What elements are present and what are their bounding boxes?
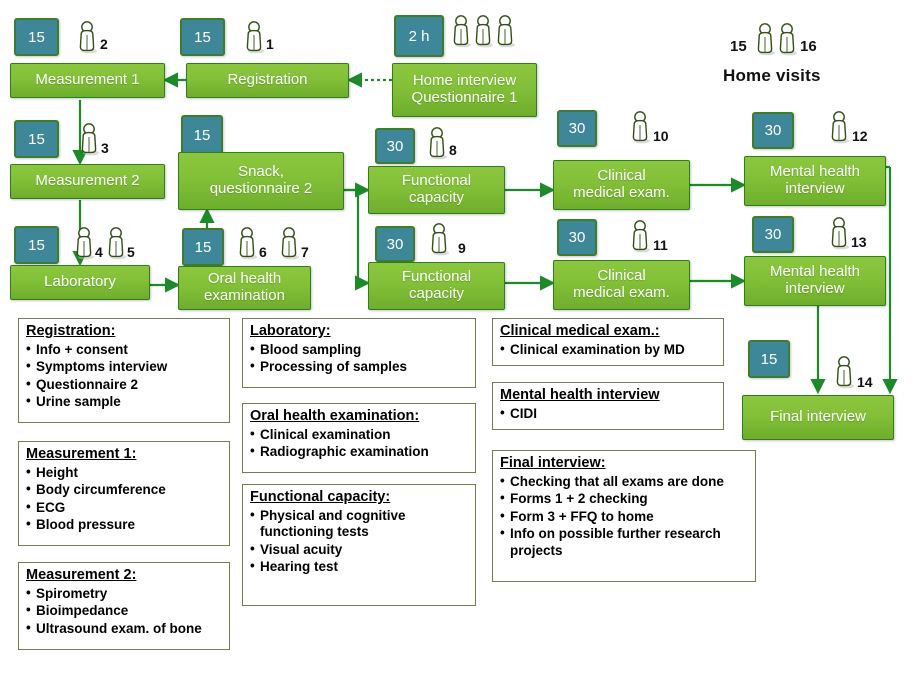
legend-item: Spirometry	[26, 586, 222, 602]
person-index-8: 8	[449, 142, 457, 158]
legend-item: CIDI	[500, 406, 716, 422]
legend-item: Body circumference	[26, 482, 222, 498]
person-icon	[629, 110, 651, 144]
legend-item: Forms 1 + 2 checking	[500, 491, 748, 507]
legend-item: Info on possible further research projec…	[500, 526, 748, 559]
person-index-10: 10	[653, 128, 669, 144]
process-label-mental2-line2: interview	[781, 281, 848, 298]
legend-title: Functional capacity:	[250, 489, 468, 507]
person-icon	[236, 226, 258, 260]
person-icon	[78, 122, 100, 156]
process-label-mental1-line1: Mental health	[766, 164, 864, 181]
legend-item: Questionnaire 2	[26, 377, 222, 393]
legend-list: Spirometry Bioimpedance Ultrasound exam.…	[26, 586, 222, 637]
legend-laboratory: Laboratory: Blood sampling Processing of…	[242, 318, 476, 388]
badge-snack-duration: 15	[181, 115, 223, 155]
process-label-home-interview-line1: Home interview	[409, 73, 520, 90]
legend-measurement1: Measurement 1: Height Body circumference…	[18, 441, 230, 546]
legend-title: Oral health examination:	[250, 408, 468, 426]
legend-oral-health: Oral health examination: Clinical examin…	[242, 403, 476, 473]
process-label-snack-line2: questionnaire 2	[206, 181, 317, 198]
process-label-functional2-line1: Functional	[398, 269, 475, 286]
process-box-final-interview[interactable]: Final interview	[742, 395, 894, 440]
legend-list: CIDI	[500, 406, 716, 422]
person-index-3: 3	[101, 140, 109, 156]
process-box-measurement2[interactable]: Measurement 2	[10, 164, 165, 199]
legend-title: Laboratory:	[250, 323, 468, 341]
legend-registration: Registration: Info + consent Symptoms in…	[18, 318, 230, 423]
person-icon	[243, 20, 265, 54]
person-icon	[472, 14, 494, 48]
legend-item: Ultrasound exam. of bone	[26, 621, 222, 637]
legend-list: Clinical examination Radiographic examin…	[250, 427, 468, 461]
legend-item: Height	[26, 465, 222, 481]
person-index-2: 2	[100, 36, 108, 52]
legend-title: Measurement 2:	[26, 567, 222, 585]
legend-item: Visual acuity	[250, 542, 468, 558]
legend-item: Hearing test	[250, 559, 468, 575]
badge-clinical2-duration: 30	[557, 219, 597, 256]
legend-title: Clinical medical exam.:	[500, 323, 716, 341]
process-box-laboratory[interactable]: Laboratory	[10, 265, 150, 300]
process-box-clinical2[interactable]: Clinical medical exam.	[553, 260, 690, 310]
process-box-functional2[interactable]: Functional capacity	[368, 262, 505, 310]
process-box-mental1[interactable]: Mental health interview	[744, 156, 886, 206]
legend-item: Radiographic examination	[250, 444, 468, 460]
process-box-mental2[interactable]: Mental health interview	[744, 256, 886, 306]
badge-oral-health-duration: 15	[182, 228, 224, 266]
process-label-mental1-line2: interview	[781, 181, 848, 198]
process-label-oral-line2: examination	[200, 288, 289, 305]
person-icon	[428, 222, 450, 256]
legend-list: Checking that all exams are done Forms 1…	[500, 474, 748, 559]
badge-measurement2-duration: 15	[14, 120, 59, 158]
process-label-registration: Registration	[223, 72, 311, 89]
person-index-7: 7	[301, 244, 309, 260]
person-icon	[450, 14, 472, 48]
person-icon	[76, 20, 98, 54]
legend-list: Clinical examination by MD	[500, 342, 716, 358]
process-label-measurement1: Measurement 1	[31, 72, 143, 89]
person-icon	[754, 22, 776, 56]
person-index-13: 13	[851, 234, 867, 250]
legend-final-interview: Final interview: Checking that all exams…	[492, 450, 756, 582]
process-label-mental2-line1: Mental health	[766, 264, 864, 281]
process-label-measurement2: Measurement 2	[31, 173, 143, 190]
process-label-clinical2-line2: medical exam.	[569, 285, 674, 302]
process-label-home-interview-line2: Questionnaire 1	[408, 90, 522, 107]
legend-measurement2: Measurement 2: Spirometry Bioimpedance U…	[18, 562, 230, 650]
person-index-5: 5	[127, 244, 135, 260]
badge-home-interview-duration: 2 h	[394, 15, 444, 57]
person-index-9: 9	[458, 240, 466, 256]
badge-laboratory-duration: 15	[14, 226, 59, 264]
person-index-14: 14	[857, 374, 873, 390]
home-visits-label: Home visits	[723, 66, 821, 86]
person-icon	[278, 226, 300, 260]
legend-clinical-medical-exam: Clinical medical exam.: Clinical examina…	[492, 318, 724, 366]
person-icon	[828, 216, 850, 250]
badge-final-duration: 15	[748, 340, 790, 378]
process-label-clinical1-line2: medical exam.	[569, 185, 674, 202]
process-box-clinical1[interactable]: Clinical medical exam.	[553, 160, 690, 210]
person-icon	[105, 226, 127, 260]
legend-item: Symptoms interview	[26, 359, 222, 375]
person-icon	[629, 219, 651, 253]
process-label-functional1-line2: capacity	[405, 190, 468, 207]
legend-mental-health-interview: Mental health interview CIDI	[492, 382, 724, 430]
legend-list: Height Body circumference ECG Blood pres…	[26, 465, 222, 534]
legend-item: Bioimpedance	[26, 603, 222, 619]
badge-mental2-duration: 30	[752, 216, 794, 253]
legend-list: Info + consent Symptoms interview Questi…	[26, 342, 222, 411]
badge-clinical1-duration: 30	[557, 110, 597, 147]
person-index-1: 1	[266, 36, 274, 52]
badge-measurement1-duration: 15	[14, 18, 59, 56]
person-icon	[426, 126, 448, 160]
person-icon	[828, 110, 850, 144]
legend-item: Urine sample	[26, 394, 222, 410]
legend-item: Checking that all exams are done	[500, 474, 748, 490]
person-index-4: 4	[95, 244, 103, 260]
process-box-snack[interactable]: Snack, questionnaire 2	[178, 152, 344, 210]
process-box-oral-health[interactable]: Oral health examination	[178, 266, 311, 310]
process-label-functional1-line1: Functional	[398, 173, 475, 190]
legend-item: Form 3 + FFQ to home	[500, 509, 748, 525]
process-label-final-interview: Final interview	[766, 409, 870, 426]
person-icon	[73, 226, 95, 260]
process-box-registration[interactable]: Registration	[186, 63, 349, 98]
process-label-oral-line1: Oral health	[204, 271, 285, 288]
person-icon	[776, 22, 798, 56]
process-box-functional1[interactable]: Functional capacity	[368, 166, 505, 214]
home-visit-index-16: 16	[800, 38, 817, 55]
legend-title: Final interview:	[500, 455, 748, 473]
person-icon	[833, 355, 855, 389]
legend-item: Blood pressure	[26, 517, 222, 533]
legend-functional-capacity: Functional capacity: Physical and cognit…	[242, 484, 476, 606]
diagram-canvas: 15 15 2 h 15 15 15 15 30 30 30 30 30 30 …	[0, 0, 920, 690]
legend-item: Blood sampling	[250, 342, 468, 358]
legend-item: Info + consent	[26, 342, 222, 358]
legend-item: Physical and cognitive functioning tests	[250, 508, 468, 541]
home-visit-index-15: 15	[730, 38, 747, 55]
process-label-clinical2-line1: Clinical	[593, 268, 649, 285]
process-box-home-interview[interactable]: Home interview Questionnaire 1	[392, 63, 537, 117]
person-index-11: 11	[653, 237, 668, 253]
badge-functional1-duration: 30	[375, 128, 415, 164]
person-icon	[494, 14, 516, 48]
process-label-clinical1-line1: Clinical	[593, 168, 649, 185]
badge-functional2-duration: 30	[375, 226, 415, 262]
process-box-measurement1[interactable]: Measurement 1	[10, 63, 165, 98]
process-label-functional2-line2: capacity	[405, 286, 468, 303]
legend-title: Mental health interview	[500, 387, 716, 405]
legend-item: Clinical examination	[250, 427, 468, 443]
badge-registration-duration: 15	[180, 18, 225, 56]
person-index-6: 6	[259, 244, 267, 260]
legend-item: Clinical examination by MD	[500, 342, 716, 358]
legend-item: Processing of samples	[250, 359, 468, 375]
legend-list: Blood sampling Processing of samples	[250, 342, 468, 376]
person-index-12: 12	[852, 128, 868, 144]
legend-item: ECG	[26, 500, 222, 516]
legend-title: Measurement 1:	[26, 446, 222, 464]
legend-list: Physical and cognitive functioning tests…	[250, 508, 468, 576]
badge-mental1-duration: 30	[752, 112, 794, 149]
process-label-laboratory: Laboratory	[40, 274, 120, 291]
process-label-snack-line1: Snack,	[234, 164, 288, 181]
legend-title: Registration:	[26, 323, 222, 341]
